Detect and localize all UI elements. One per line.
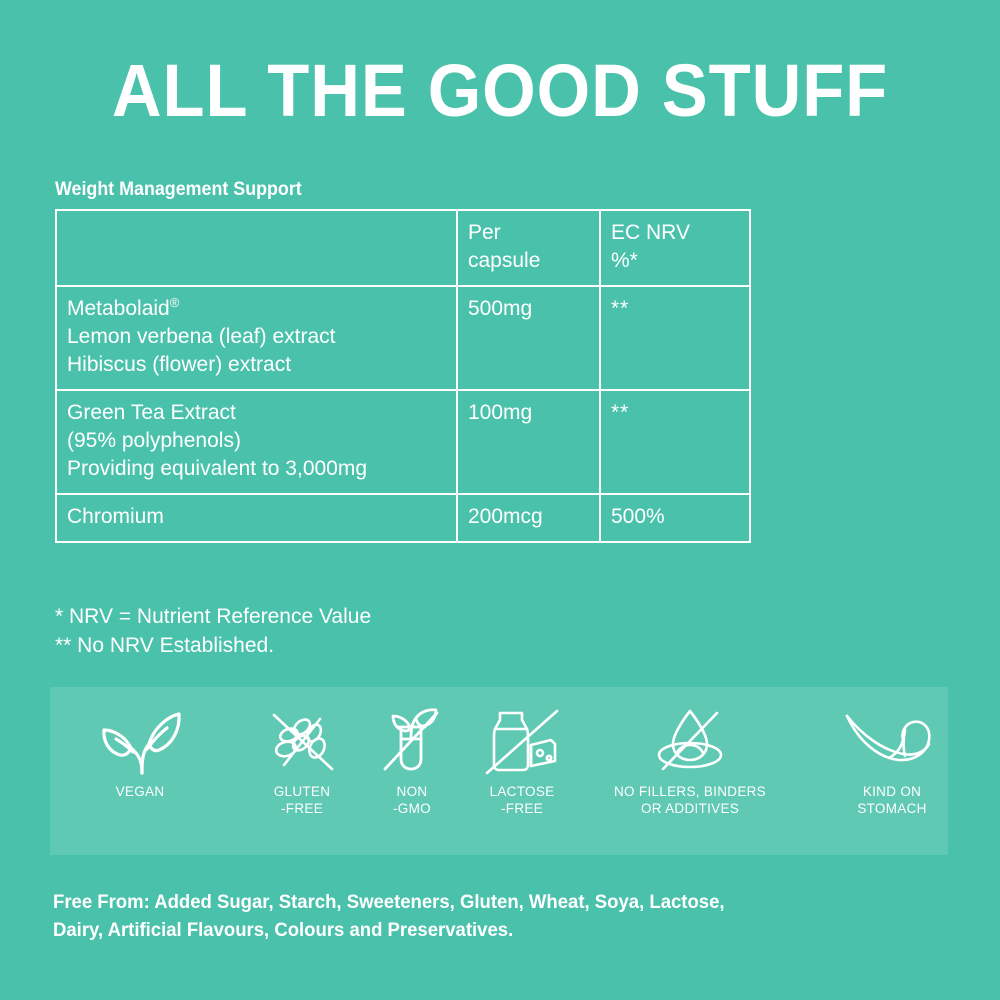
badge-vegan: VEGAN [70,701,210,800]
row-name-line3: Hibiscus (flower) extract [67,351,446,379]
free-from-statement: Free From: Added Sugar, Starch, Sweetene… [53,888,908,944]
free-from-line2: Dairy, Artificial Flavours, Colours and … [53,916,908,944]
row-name-line3: Providing equivalent to 3,000mg [67,455,446,483]
badge-no-fillers: NO FILLERS, BINDERS OR ADDITIVES [560,701,820,817]
row-nrv-cell: ** [600,390,750,494]
header-cell-name [56,210,457,286]
header-nrv-line2: %* [611,247,739,275]
nutrition-table: Per capsule EC NRV %* Metabolaid® Lemon … [55,209,751,543]
row-amount-cell: 100mg [457,390,600,494]
row-name-cell: Metabolaid® Lemon verbena (leaf) extract… [56,286,457,390]
sprout-leaves-icon [70,701,210,779]
footnote-nrv-definition: * NRV = Nutrient Reference Value [55,602,371,631]
row-name-line1: Green Tea Extract [67,399,446,427]
row-name-line1: Metabolaid® [67,295,446,323]
header-amount-line1: Per [468,219,589,247]
badge-kind-on-stomach: KIND ON STOMACH [812,701,972,817]
row-name-line1: Chromium [67,503,446,531]
badge-no-fillers-label: NO FILLERS, BINDERS OR ADDITIVES [560,783,820,817]
badge-kind-on-stomach-label: KIND ON STOMACH [812,783,972,817]
section-label: Weight Management Support [55,178,302,202]
table-row: Metabolaid® Lemon verbena (leaf) extract… [56,286,750,390]
header-nrv-line1: EC NRV [611,219,739,247]
row-amount-cell: 200mcg [457,494,600,542]
row-name-line2: (95% polyphenols) [67,427,446,455]
feather-icon [812,701,972,779]
certification-badge-band: VEGAN GLUTEN -FREE [50,687,948,855]
row-nrv-cell: 500% [600,494,750,542]
row-amount-cell: 500mg [457,286,600,390]
row-name-cell: Green Tea Extract (95% polyphenols) Prov… [56,390,457,494]
header-cell-amount: Per capsule [457,210,600,286]
row-name-cell: Chromium [56,494,457,542]
badge-vegan-label: VEGAN [70,783,210,800]
page-title: ALL THE GOOD STUFF [35,48,965,134]
table-row: Chromium 200mcg 500% [56,494,750,542]
table-footnotes: * NRV = Nutrient Reference Value ** No N… [55,602,371,660]
table-row: Green Tea Extract (95% polyphenols) Prov… [56,390,750,494]
table-header-row: Per capsule EC NRV %* [56,210,750,286]
header-cell-nrv: EC NRV %* [600,210,750,286]
header-amount-line2: capsule [468,247,589,275]
registered-mark-icon: ® [170,295,180,310]
row-nrv-cell: ** [600,286,750,390]
free-from-line1: Free From: Added Sugar, Starch, Sweetene… [53,888,908,916]
row-name-line2: Lemon verbena (leaf) extract [67,323,446,351]
water-droplet-crossed-icon [560,701,820,779]
footnote-no-nrv: ** No NRV Established. [55,631,371,660]
